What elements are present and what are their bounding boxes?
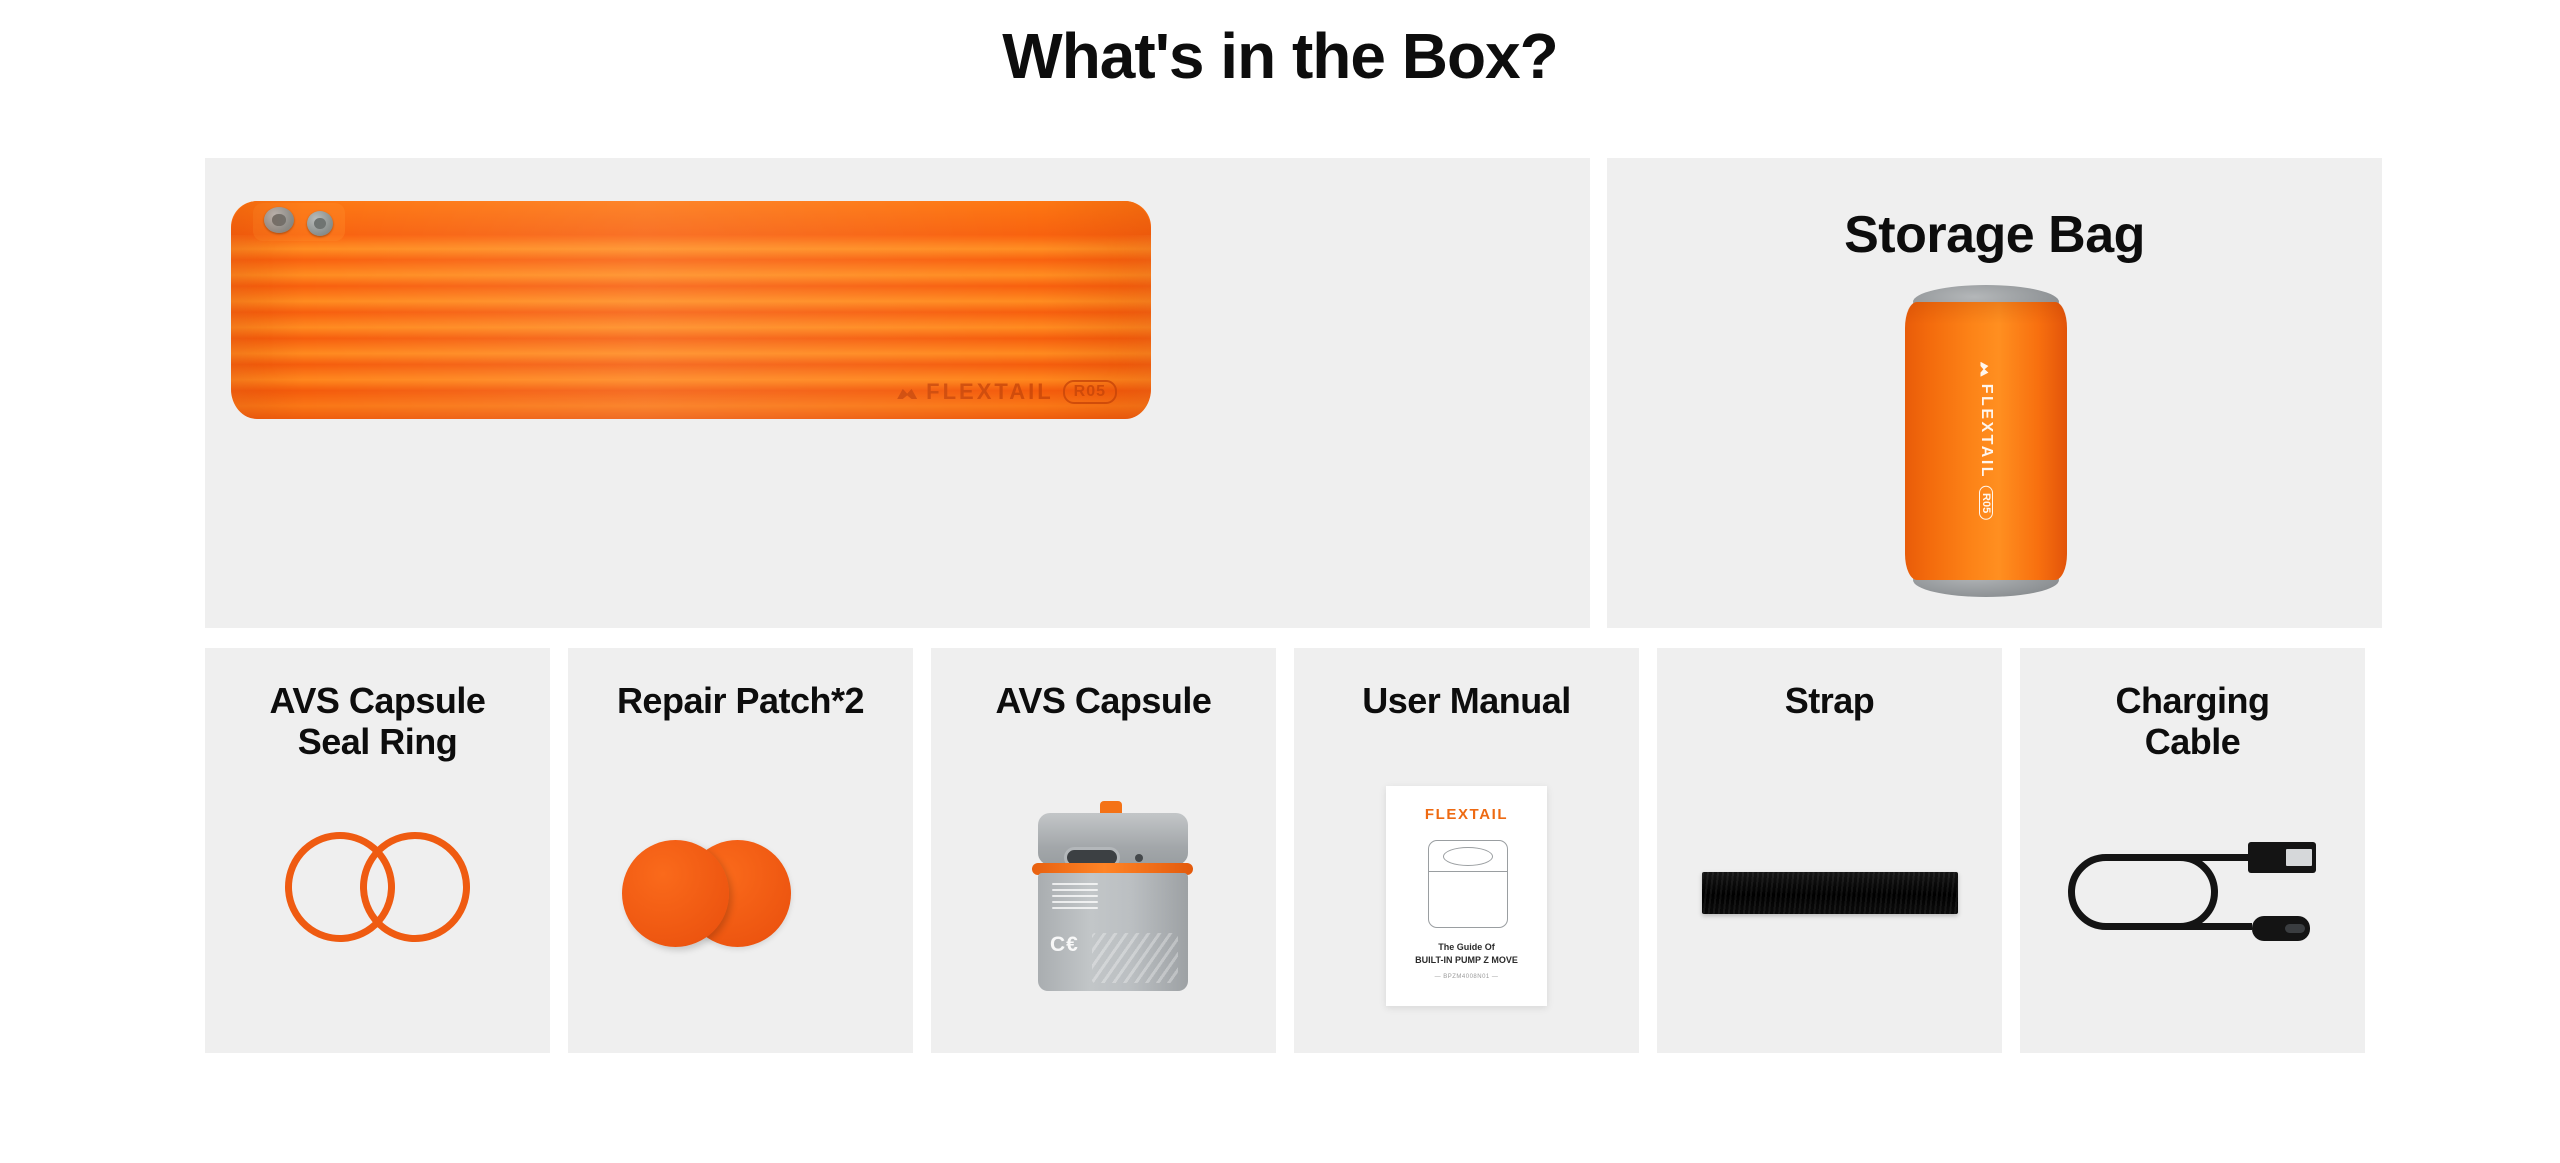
manual-subheading: BUILT-IN PUMP Z MOVE: [1415, 955, 1518, 965]
charging-cable-image: [2068, 840, 2316, 945]
title-line-1: Charging: [2116, 680, 2270, 721]
sleeping-pad-image: FLEXTAIL R05: [231, 201, 1151, 419]
seal-ring-image: [285, 832, 470, 942]
pad-brand-logo: FLEXTAIL R05: [897, 379, 1117, 405]
inflation-valve-icon: [264, 207, 294, 233]
panel-title-storage-bag: Storage Bag: [1607, 206, 2382, 265]
cable-lead-bottom: [2164, 923, 2252, 930]
panel-title-avs-capsule-seal-ring: AVS Capsule Seal Ring: [205, 681, 550, 762]
user-manual-image: FLEXTAIL The Guide Of BUILT-IN PUMP Z MO…: [1386, 786, 1547, 1006]
page-title: What's in the Box?: [0, 18, 2560, 95]
avs-air-vent-grill: [1092, 933, 1178, 983]
title-line-1: AVS Capsule: [270, 680, 486, 721]
deflation-valve-icon: [307, 211, 333, 236]
strap-image: [1702, 872, 1958, 914]
avs-label-text-lines: [1052, 883, 1098, 913]
bag-model-badge: R05: [1979, 486, 1993, 520]
panel-title-strap: Strap: [1657, 681, 2002, 722]
pad-brand-wordmark: FLEXTAIL: [926, 379, 1053, 405]
cable-loop: [2068, 854, 2218, 930]
panel-title-user-manual: User Manual: [1294, 681, 1639, 722]
title-line-2: Cable: [2145, 721, 2241, 762]
led-indicator-icon: [1135, 854, 1143, 862]
panel-strap: Strap: [1657, 648, 2002, 1053]
pump-line-drawing-icon: [1428, 840, 1508, 928]
title-line-2: Seal Ring: [298, 721, 458, 762]
valve-plate: [253, 203, 345, 241]
ce-mark-icon: C€: [1050, 933, 1079, 957]
manual-brand-wordmark: FLEXTAIL: [1386, 806, 1547, 823]
pad-body: FLEXTAIL R05: [231, 201, 1151, 419]
avs-body: C€: [1038, 873, 1188, 991]
bag-tube: FLEXTAIL R05: [1905, 302, 2067, 580]
panel-title-avs-capsule: AVS Capsule: [931, 681, 1276, 722]
manual-code: — BPZM4008N01 —: [1386, 974, 1547, 980]
pad-head-panel: [231, 201, 1151, 235]
usb-c-connector-icon: [2252, 916, 2310, 941]
storage-bag-image: FLEXTAIL R05: [1905, 285, 2067, 597]
manual-title-text: The Guide Of BUILT-IN PUMP Z MOVE: [1386, 941, 1547, 967]
pad-model-badge: R05: [1063, 380, 1117, 404]
flextail-mark-icon: [897, 385, 917, 399]
repair-patch-image: [622, 840, 797, 947]
panel-title-charging-cable: Charging Cable: [2020, 681, 2365, 762]
bag-brand-wordmark: FLEXTAIL: [1977, 384, 1995, 479]
cable-lead-top: [2164, 854, 2252, 861]
manual-heading: The Guide Of: [1438, 942, 1495, 952]
whats-in-the-box-infographic: What's in the Box? Sleeping Pad R05 FLEX…: [0, 0, 2560, 1163]
bag-brand-logo: FLEXTAIL R05: [1977, 362, 1995, 520]
usb-a-connector-icon: [2248, 842, 2316, 873]
avs-lid: [1038, 813, 1188, 865]
avs-capsule-image: C€: [1030, 795, 1195, 995]
repair-patch-front: [622, 840, 729, 947]
flextail-mark-icon: [1981, 362, 1992, 377]
panel-title-repair-patch: Repair Patch*2: [568, 681, 913, 722]
